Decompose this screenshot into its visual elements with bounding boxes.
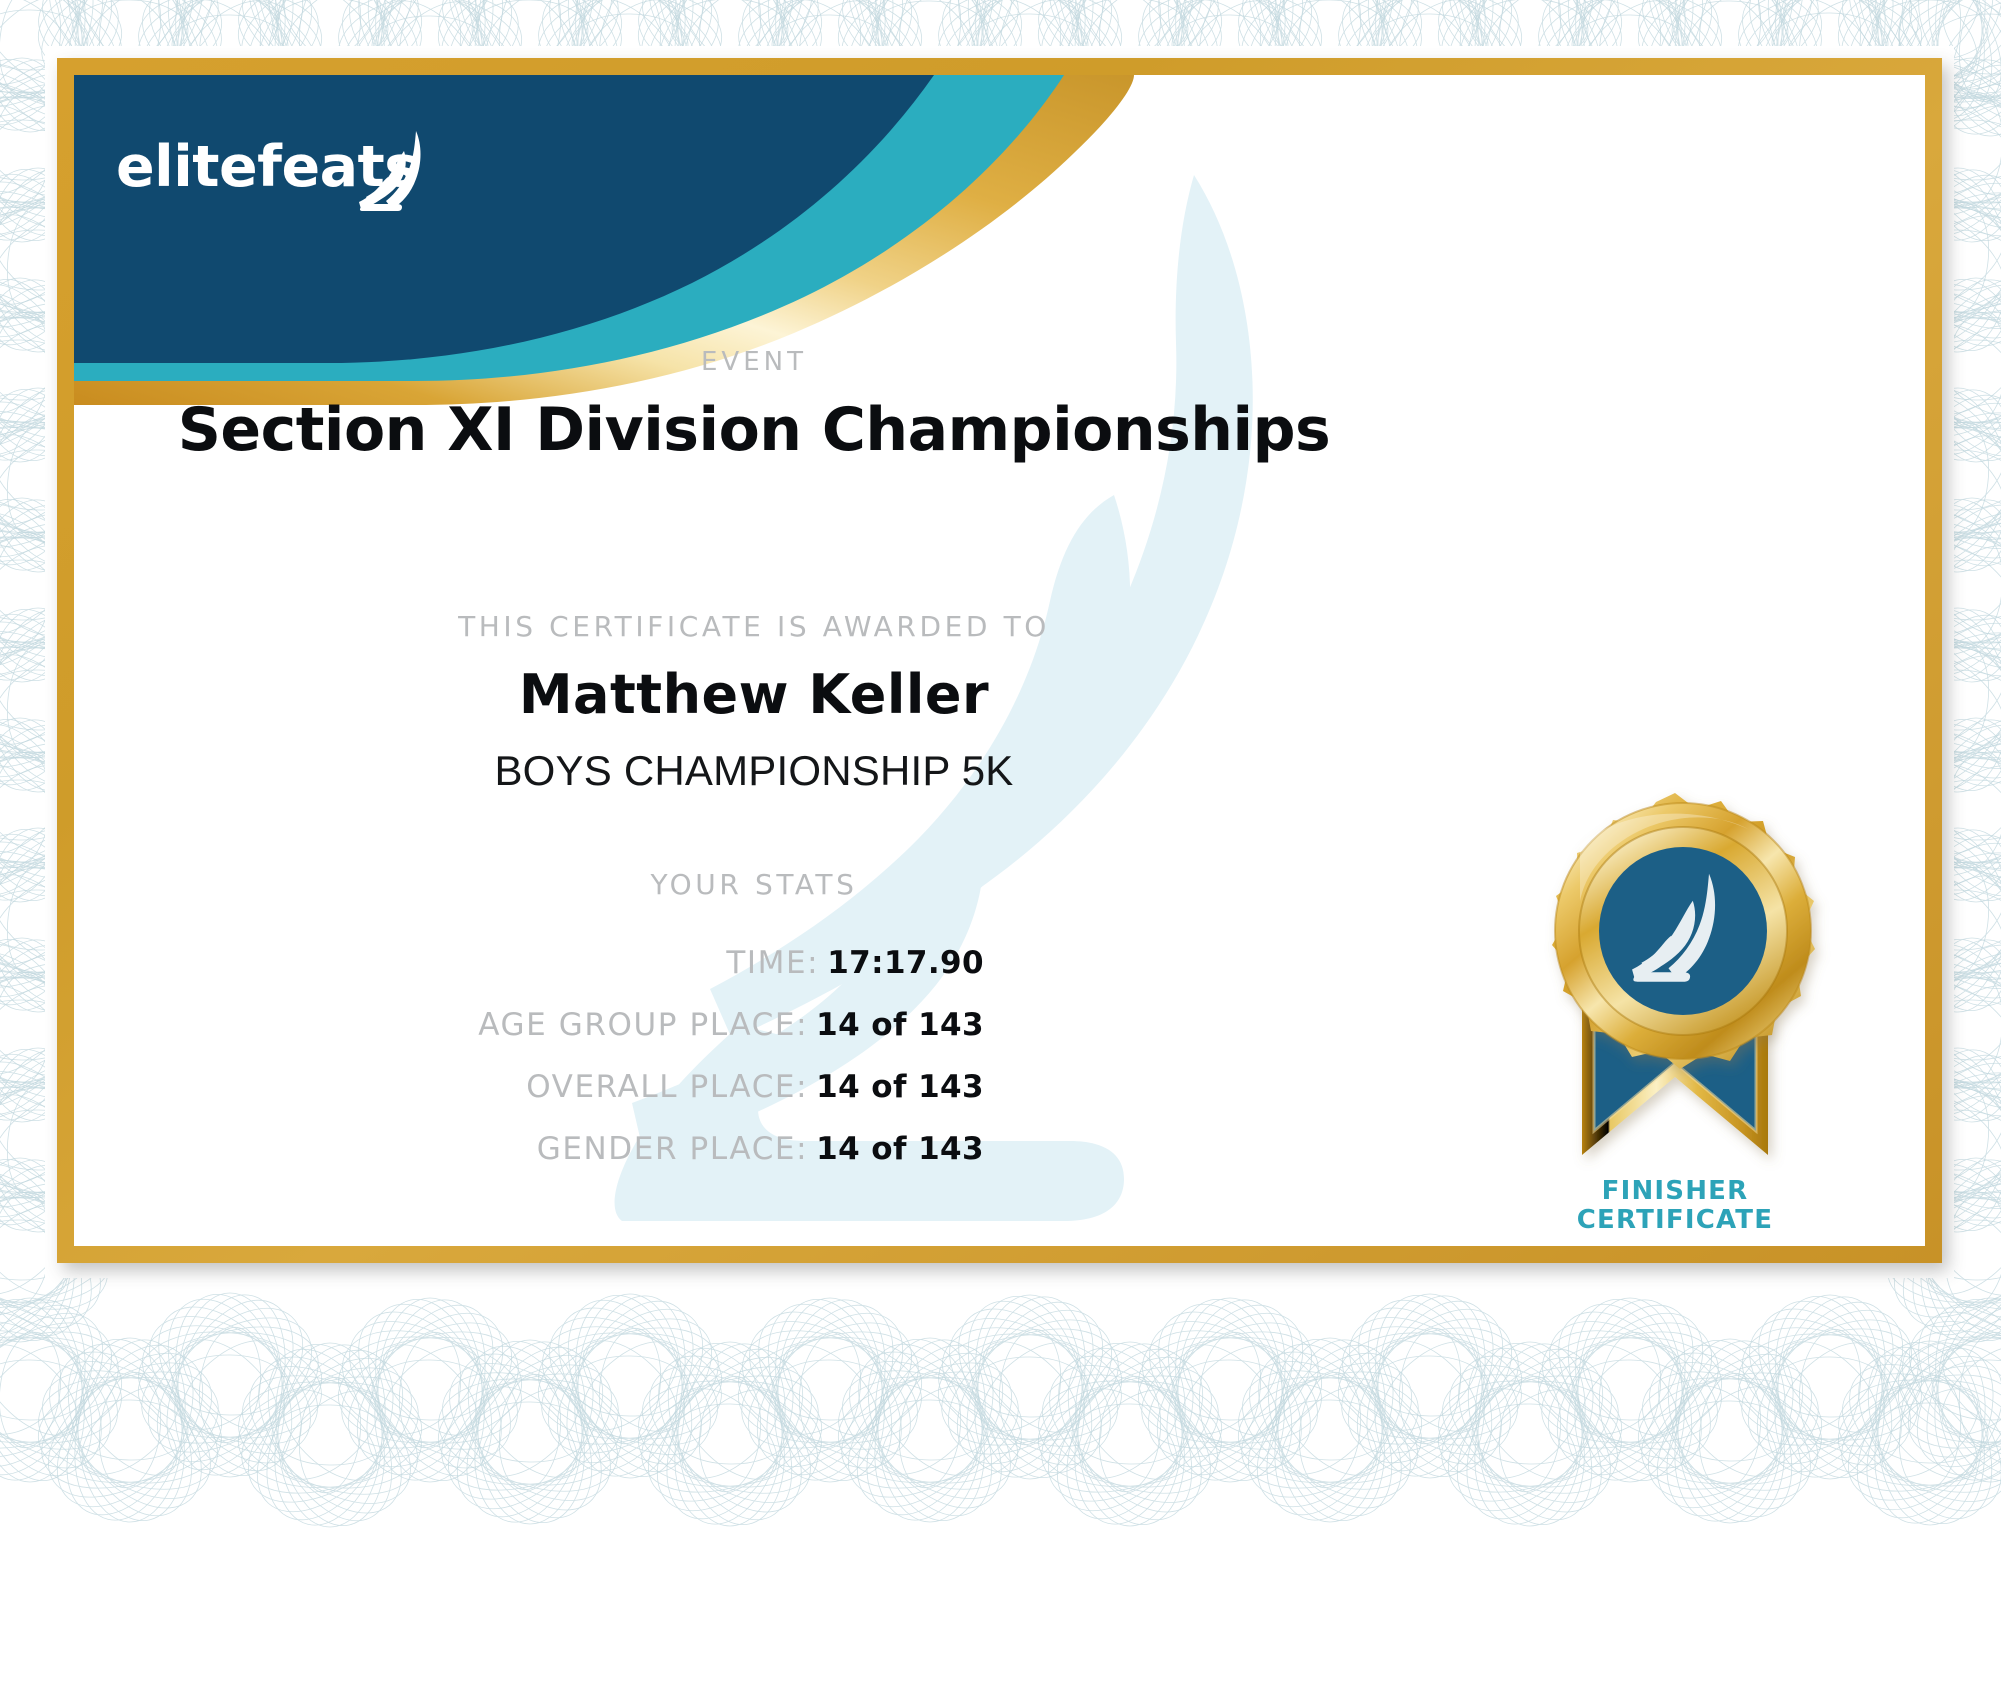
stat-key: OVERALL PLACE:	[526, 1069, 808, 1105]
stat-row-overall-place: OVERALL PLACE:14 of 143	[74, 1069, 1434, 1105]
certificate-gold-frame: elitefeats EVENT Section XI Division Cha…	[57, 58, 1942, 1263]
certificate-page: elitefeats EVENT Section XI Division Cha…	[0, 0, 2001, 1700]
elitefeats-logo: elitefeats	[116, 133, 456, 223]
badge-caption-line-2: CERTIFICATE	[1510, 1206, 1840, 1235]
stat-value: 14 of 143	[816, 1007, 984, 1043]
stat-value: 17:17.90	[827, 945, 984, 981]
badge-caption: FINISHER CERTIFICATE	[1510, 1177, 1840, 1236]
your-stats-label: YOUR STATS	[74, 868, 1434, 901]
stat-row-gender-place: GENDER PLACE:14 of 143	[74, 1131, 1434, 1167]
medal-rosette-icon: 2025	[1510, 785, 1840, 1185]
stats-list: TIME:17:17.90 AGE GROUP PLACE:14 of 143 …	[74, 945, 1434, 1193]
stat-value: 14 of 143	[816, 1069, 984, 1105]
badge-caption-line-1: FINISHER	[1510, 1177, 1840, 1206]
recipient-name: Matthew Keller	[74, 663, 1434, 726]
event-label: EVENT	[74, 347, 1434, 377]
division-name: BOYS CHAMPIONSHIP 5K	[74, 747, 1434, 795]
stat-value: 14 of 143	[816, 1131, 984, 1167]
stat-key: AGE GROUP PLACE:	[478, 1007, 808, 1043]
stat-key: TIME:	[726, 945, 819, 981]
stat-row-time: TIME:17:17.90	[74, 945, 1434, 981]
stat-row-age-group-place: AGE GROUP PLACE:14 of 143	[74, 1007, 1434, 1043]
finisher-medal-badge: 2025	[1510, 785, 1840, 1246]
stat-key: GENDER PLACE:	[537, 1131, 808, 1167]
awarded-to-label: THIS CERTIFICATE IS AWARDED TO	[74, 610, 1434, 643]
certificate-body: elitefeats EVENT Section XI Division Cha…	[74, 75, 1925, 1246]
event-title: Section XI Division Championships	[74, 395, 1434, 465]
winged-foot-icon	[354, 129, 434, 211]
